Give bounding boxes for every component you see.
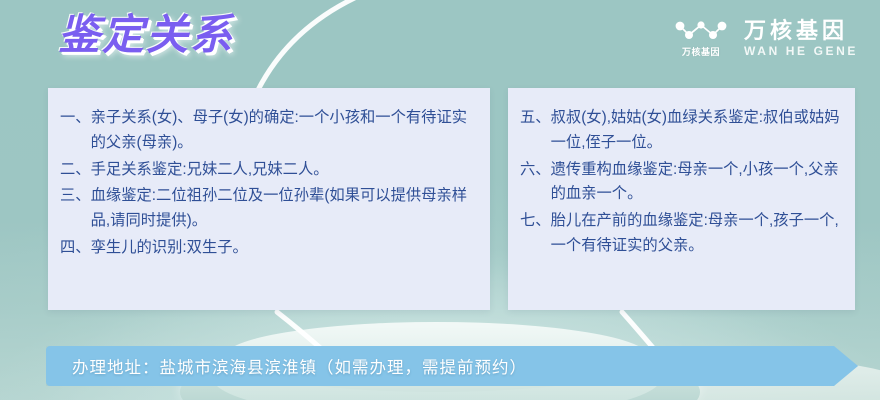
list-item: 五、叔叔(女),姑姑(女)血绿关系鉴定:叔伯或姑妈一位,侄子一位。 (520, 106, 841, 156)
list-item-marker: 二、 (60, 158, 91, 183)
list-item-marker: 四、 (60, 236, 91, 261)
address-banner-body: 办理地址：盐城市滨海县滨淮镇（如需办理，需提前预约） (46, 346, 858, 386)
brand-mark: 万核基因 (672, 18, 730, 58)
list-item-text: 手足关系鉴定:兄妹二人,兄妹二人。 (91, 158, 476, 183)
brand-name-cn: 万核基因 (744, 19, 858, 42)
relations-panel-left: 一、亲子关系(女)、母子(女)的确定:一个小孩和一个有待证实的父亲(母亲)。二、… (48, 88, 490, 310)
list-item-text: 叔叔(女),姑姑(女)血绿关系鉴定:叔伯或姑妈一位,侄子一位。 (551, 106, 841, 156)
list-item-marker: 三、 (60, 184, 91, 209)
list-item-text: 血缘鉴定:二位祖孙二位及一位孙辈(如果可以提供母亲样品,请同时提供)。 (91, 184, 476, 234)
relations-list-left: 一、亲子关系(女)、母子(女)的确定:一个小孩和一个有待证实的父亲(母亲)。二、… (60, 106, 476, 261)
list-item-marker: 六、 (520, 158, 551, 183)
relations-list-right: 五、叔叔(女),姑姑(女)血绿关系鉴定:叔伯或姑妈一位,侄子一位。六、遗传重构血… (520, 106, 841, 259)
list-item: 一、亲子关系(女)、母子(女)的确定:一个小孩和一个有待证实的父亲(母亲)。 (60, 106, 476, 156)
list-item: 四、孪生儿的识别:双生子。 (60, 236, 476, 261)
relations-panel-right: 五、叔叔(女),姑姑(女)血绿关系鉴定:叔伯或姑妈一位,侄子一位。六、遗传重构血… (508, 88, 855, 310)
list-item-marker: 一、 (60, 106, 91, 131)
brand-name-en: WAN HE GENE (744, 45, 858, 57)
page-title: 鉴定关系 (58, 14, 234, 56)
list-item: 六、遗传重构血缘鉴定:母亲一个,小孩一个,父亲的血亲一个。 (520, 158, 841, 208)
address-banner: 办理地址：盐城市滨海县滨淮镇（如需办理，需提前预约） (46, 346, 858, 386)
list-item-text: 遗传重构血缘鉴定:母亲一个,小孩一个,父亲的血亲一个。 (551, 158, 841, 208)
list-item-text: 亲子关系(女)、母子(女)的确定:一个小孩和一个有待证实的父亲(母亲)。 (91, 106, 476, 156)
list-item-marker: 七、 (520, 209, 551, 234)
address-text: 办理地址：盐城市滨海县滨淮镇（如需办理，需提前预约） (72, 354, 527, 378)
list-item: 三、血缘鉴定:二位祖孙二位及一位孙辈(如果可以提供母亲样品,请同时提供)。 (60, 184, 476, 234)
list-item-text: 孪生儿的识别:双生子。 (91, 236, 476, 261)
brand-wordmark: 万核基因 WAN HE GENE (744, 19, 858, 56)
list-item-text: 胎儿在产前的血缘鉴定:母亲一个,孩子一个,一个有待证实的父亲。 (551, 209, 841, 259)
brand-mark-label: 万核基因 (682, 45, 720, 58)
list-item-marker: 五、 (520, 106, 551, 131)
molecule-network-icon (672, 18, 730, 42)
list-item: 七、胎儿在产前的血缘鉴定:母亲一个,孩子一个,一个有待证实的父亲。 (520, 209, 841, 259)
brand-logo: 万核基因 万核基因 WAN HE GENE (672, 18, 858, 58)
list-item: 二、手足关系鉴定:兄妹二人,兄妹二人。 (60, 158, 476, 183)
